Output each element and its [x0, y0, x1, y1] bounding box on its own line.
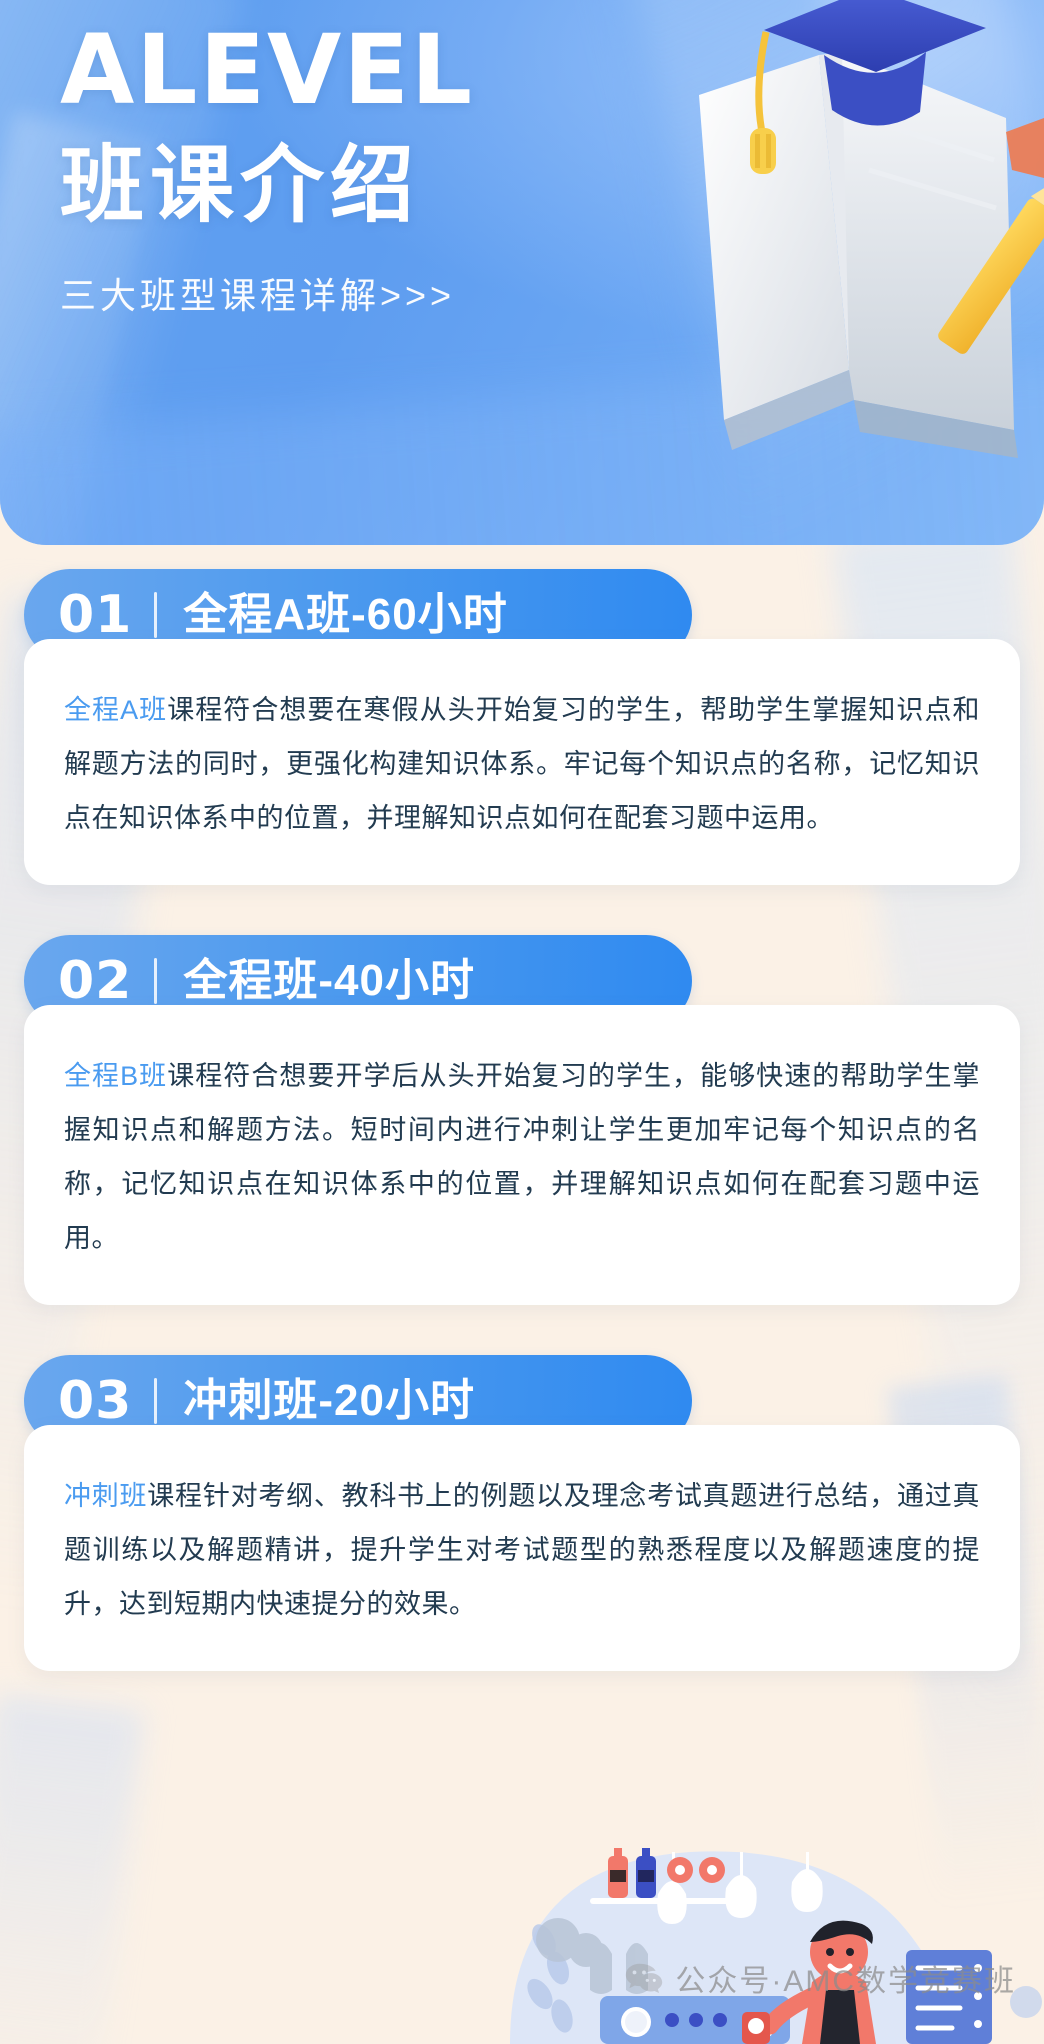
- wechat-icon: [625, 1962, 663, 1994]
- classroom-illustration: [440, 1744, 1044, 2044]
- wechat-watermark: 公众号·AMC数学竞赛班: [625, 1956, 1016, 2000]
- course-card: 03 冲刺班-20小时 冲刺班课程针对考纲、教科书上的例题以及理念考试真题进行总…: [24, 1355, 1020, 1671]
- course-body-text: 课程符合想要开学后从头开始复习的学生，能够快速的帮助学生掌握知识点和解题方法。短…: [64, 1061, 980, 1253]
- course-body-text: 课程针对考纲、教科书上的例题以及理念考试真题进行总结，通过真题训练以及解题精讲，…: [64, 1481, 980, 1619]
- header-divider: [154, 592, 157, 638]
- course-card-title: 全程A班-60小时: [183, 593, 507, 637]
- hero-title: ALEVEL: [60, 22, 474, 120]
- hero-banner: ALEVEL 班课介绍 三大班型课程详解>>>: [0, 0, 1044, 545]
- course-card-body: 全程A班课程符合想要在寒假从头开始复习的学生，帮助学生掌握知识点和解题方法的同时…: [24, 639, 1020, 885]
- course-card-number: 03: [58, 1375, 132, 1427]
- course-card-body: 全程B班课程符合想要开学后从头开始复习的学生，能够快速的帮助学生掌握知识点和解题…: [24, 1005, 1020, 1305]
- course-highlight-term: 全程B班: [64, 1061, 167, 1091]
- header-divider: [154, 958, 157, 1004]
- graduation-cap-book-illustration: [614, 0, 1044, 545]
- course-highlight-term: 冲刺班: [64, 1481, 147, 1511]
- course-card: 01 全程A班-60小时 全程A班课程符合想要在寒假从头开始复习的学生，帮助学生…: [24, 569, 1020, 885]
- poster-page: ALEVEL 班课介绍 三大班型课程详解>>> 01 全程A班-60小时 全程A…: [0, 0, 1044, 2044]
- background-swoosh-left-lower: [0, 1692, 145, 2044]
- course-card-paragraph: 冲刺班课程针对考纲、教科书上的例题以及理念考试真题进行总结，通过真题训练以及解题…: [64, 1469, 980, 1631]
- course-card-title: 冲刺班-20小时: [183, 1379, 475, 1423]
- course-card-number: 01: [58, 589, 132, 641]
- hero-text-block: ALEVEL 班课介绍 三大班型课程详解>>>: [60, 22, 474, 319]
- course-highlight-term: 全程A班: [64, 695, 167, 725]
- course-card-paragraph: 全程B班课程符合想要开学后从头开始复习的学生，能够快速的帮助学生掌握知识点和解题…: [64, 1049, 980, 1265]
- hero-tagline: 三大班型课程详解>>>: [60, 267, 474, 319]
- course-body-text: 课程符合想要在寒假从头开始复习的学生，帮助学生掌握知识点和解题方法的同时，更强化…: [64, 695, 980, 833]
- course-card-body: 冲刺班课程针对考纲、教科书上的例题以及理念考试真题进行总结，通过真题训练以及解题…: [24, 1425, 1020, 1671]
- course-card-paragraph: 全程A班课程符合想要在寒假从头开始复习的学生，帮助学生掌握知识点和解题方法的同时…: [64, 683, 980, 845]
- hero-subtitle: 班课介绍: [60, 142, 474, 229]
- course-card-number: 02: [58, 955, 132, 1007]
- course-card-list: 01 全程A班-60小时 全程A班课程符合想要在寒假从头开始复习的学生，帮助学生…: [0, 569, 1044, 1671]
- course-card: 02 全程班-40小时 全程B班课程符合想要开学后从头开始复习的学生，能够快速的…: [24, 935, 1020, 1305]
- course-card-title: 全程班-40小时: [183, 959, 475, 1003]
- watermark-text: 公众号·AMC数学竞赛班: [675, 1956, 1016, 2000]
- header-divider: [154, 1378, 157, 1424]
